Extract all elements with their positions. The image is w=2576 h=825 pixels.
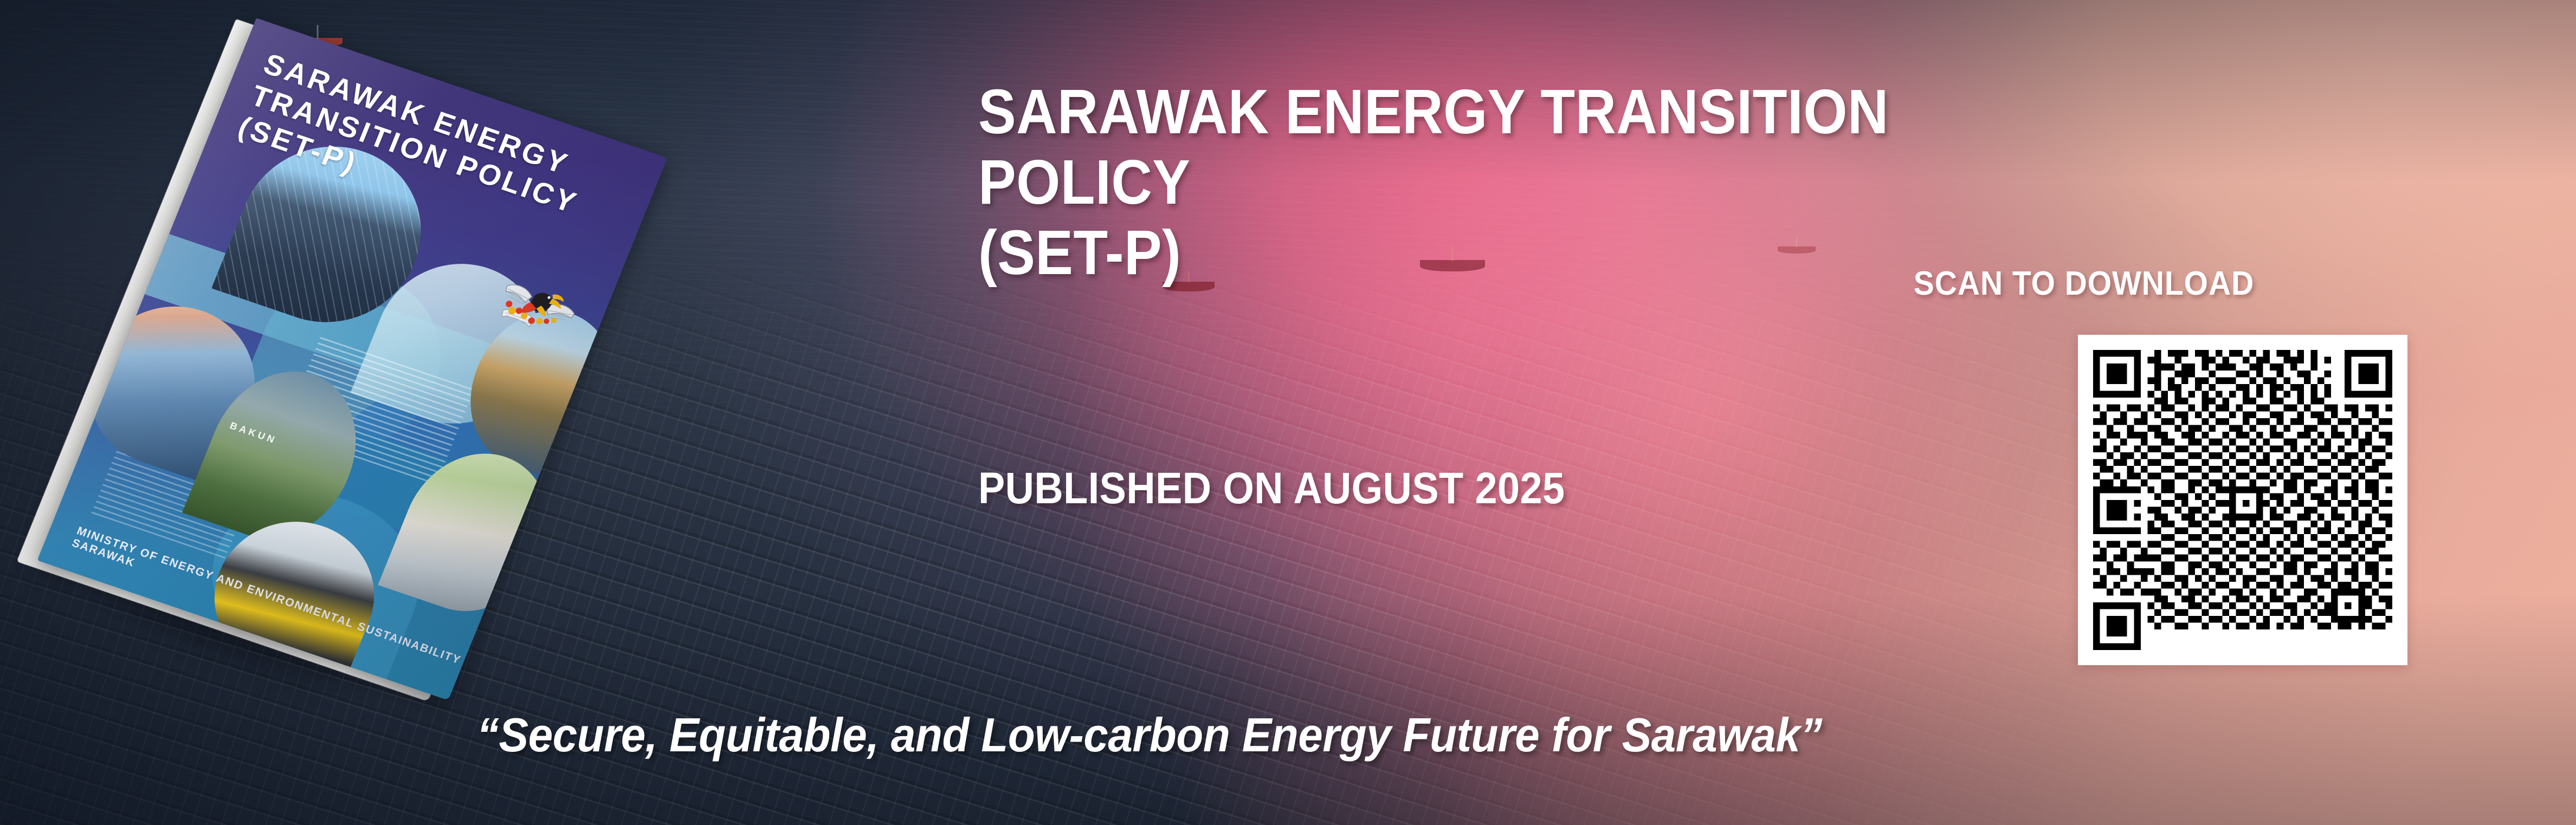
- book-mockup: BAKUN SARAWAK ENERGY TRANSITION POLICY (…: [81, 57, 829, 691]
- headline-line-1: SARAWAK ENERGY TRANSITION POLICY: [978, 77, 1954, 218]
- cover-photo-caption-bakun: BAKUN: [228, 420, 279, 446]
- banner-headline: SARAWAK ENERGY TRANSITION POLICY (SET-P): [978, 77, 1954, 288]
- book-body: BAKUN SARAWAK ENERGY TRANSITION POLICY (…: [37, 18, 667, 700]
- set-p-promo-banner: BAKUN SARAWAK ENERGY TRANSITION POLICY (…: [0, 0, 2576, 825]
- qr-code-icon[interactable]: [2093, 350, 2392, 650]
- publication-date: PUBLISHED ON AUGUST 2025: [978, 463, 1565, 514]
- qr-code-panel[interactable]: [2078, 335, 2407, 665]
- scan-to-download-label: SCAN TO DOWNLOAD: [1732, 264, 2435, 303]
- banner-tagline: “Secure, Equitable, and Low-carbon Energ…: [477, 707, 1822, 763]
